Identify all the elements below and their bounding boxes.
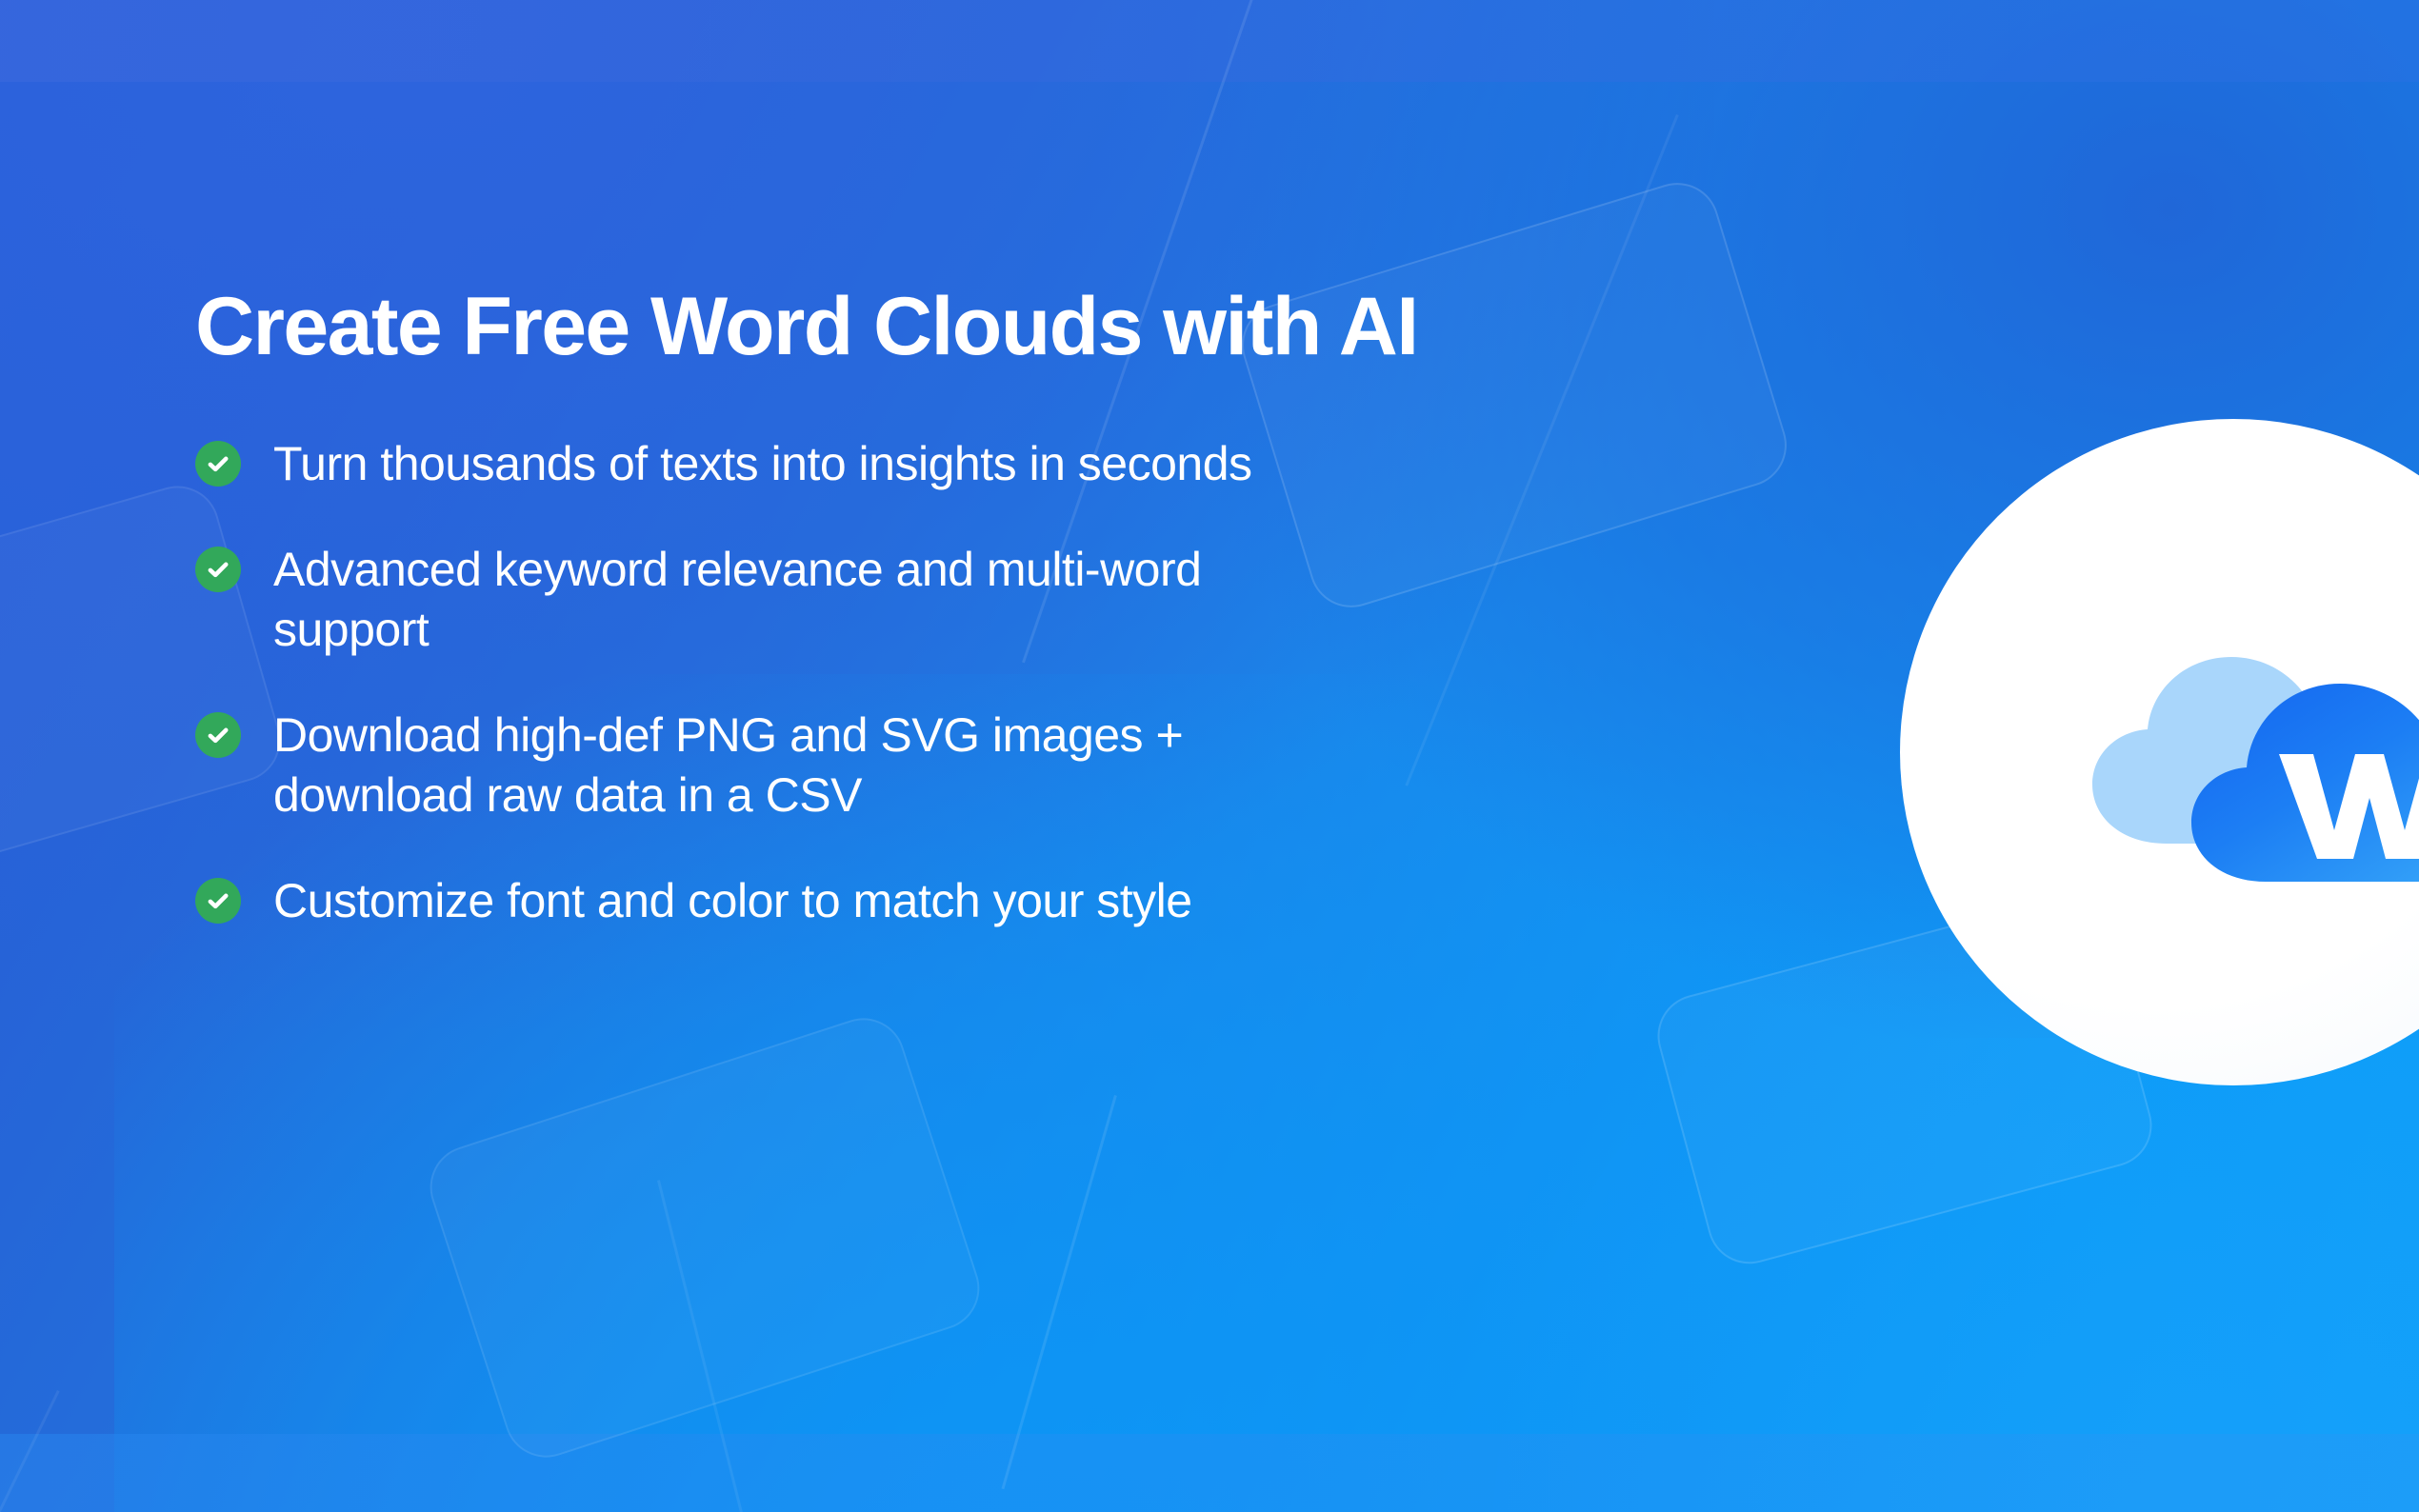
feature-list: Turn thousands of texts into insights in… bbox=[195, 434, 1871, 931]
check-circle-icon bbox=[195, 441, 241, 487]
check-circle-icon bbox=[195, 878, 241, 924]
list-item-label: Advanced keyword relevance and multi-wor… bbox=[273, 540, 1349, 660]
list-item-label: Turn thousands of texts into insights in… bbox=[273, 434, 1252, 494]
check-circle-icon bbox=[195, 712, 241, 758]
bottom-edge-band bbox=[0, 1434, 2419, 1512]
top-edge-band bbox=[0, 0, 2419, 82]
decorative-card-lower-left bbox=[419, 1007, 990, 1468]
cloud-icon bbox=[2079, 604, 2419, 889]
hero-banner: Create Free Word Clouds with AI Turn tho… bbox=[0, 0, 2419, 1512]
check-circle-icon bbox=[195, 547, 241, 592]
list-item: Download high-def PNG and SVG images + d… bbox=[195, 706, 1871, 826]
word-cloud-logo bbox=[1900, 419, 2419, 1085]
hero-content: Create Free Word Clouds with AI Turn tho… bbox=[195, 286, 1871, 931]
list-item-label: Customize font and color to match your s… bbox=[273, 871, 1192, 931]
list-item-label: Download high-def PNG and SVG images + d… bbox=[273, 706, 1349, 826]
decorative-streak-6 bbox=[1001, 1095, 1116, 1489]
list-item: Customize font and color to match your s… bbox=[195, 871, 1871, 931]
list-item: Advanced keyword relevance and multi-wor… bbox=[195, 540, 1871, 660]
page-title: Create Free Word Clouds with AI bbox=[195, 286, 1871, 369]
list-item: Turn thousands of texts into insights in… bbox=[195, 434, 1871, 494]
